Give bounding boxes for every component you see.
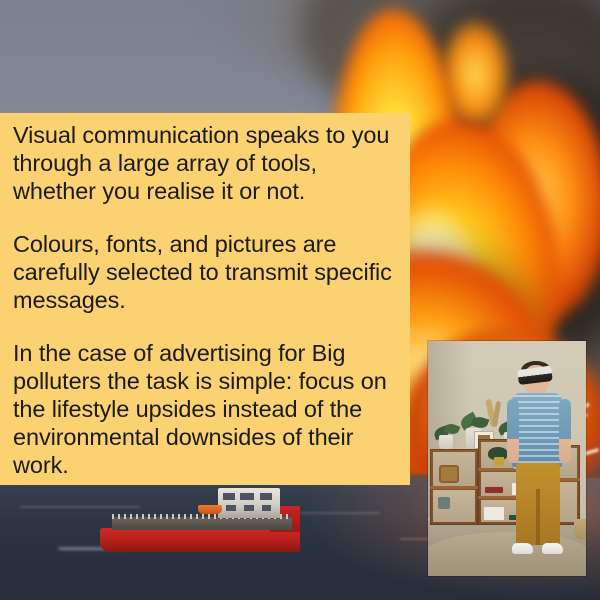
shelf-object [494,457,504,466]
boy-with-vr-headset-photo [428,341,586,576]
shelf-book [485,487,503,493]
shelf-object [439,465,459,483]
leg-seam [536,489,540,545]
shoe [512,543,533,554]
poster: Visual communication speaks to you throu… [0,0,600,600]
caption-paragraph-3: In the case of advertising for Big pollu… [13,339,396,479]
arm [559,399,571,463]
basket [574,519,586,539]
boy [506,359,572,569]
bookshelf [430,449,478,525]
shelf-object [438,497,450,509]
caption-paragraph-2: Colours, fonts, and pictures are careful… [13,230,396,314]
caption-panel: Visual communication speaks to you throu… [0,113,410,485]
red-cargo-ship [100,484,320,552]
shoe [542,543,563,554]
caption-paragraph-1: Visual communication speaks to you throu… [13,121,396,205]
shelf-box [484,507,504,520]
arm [507,399,519,463]
striped-shirt [512,393,562,469]
